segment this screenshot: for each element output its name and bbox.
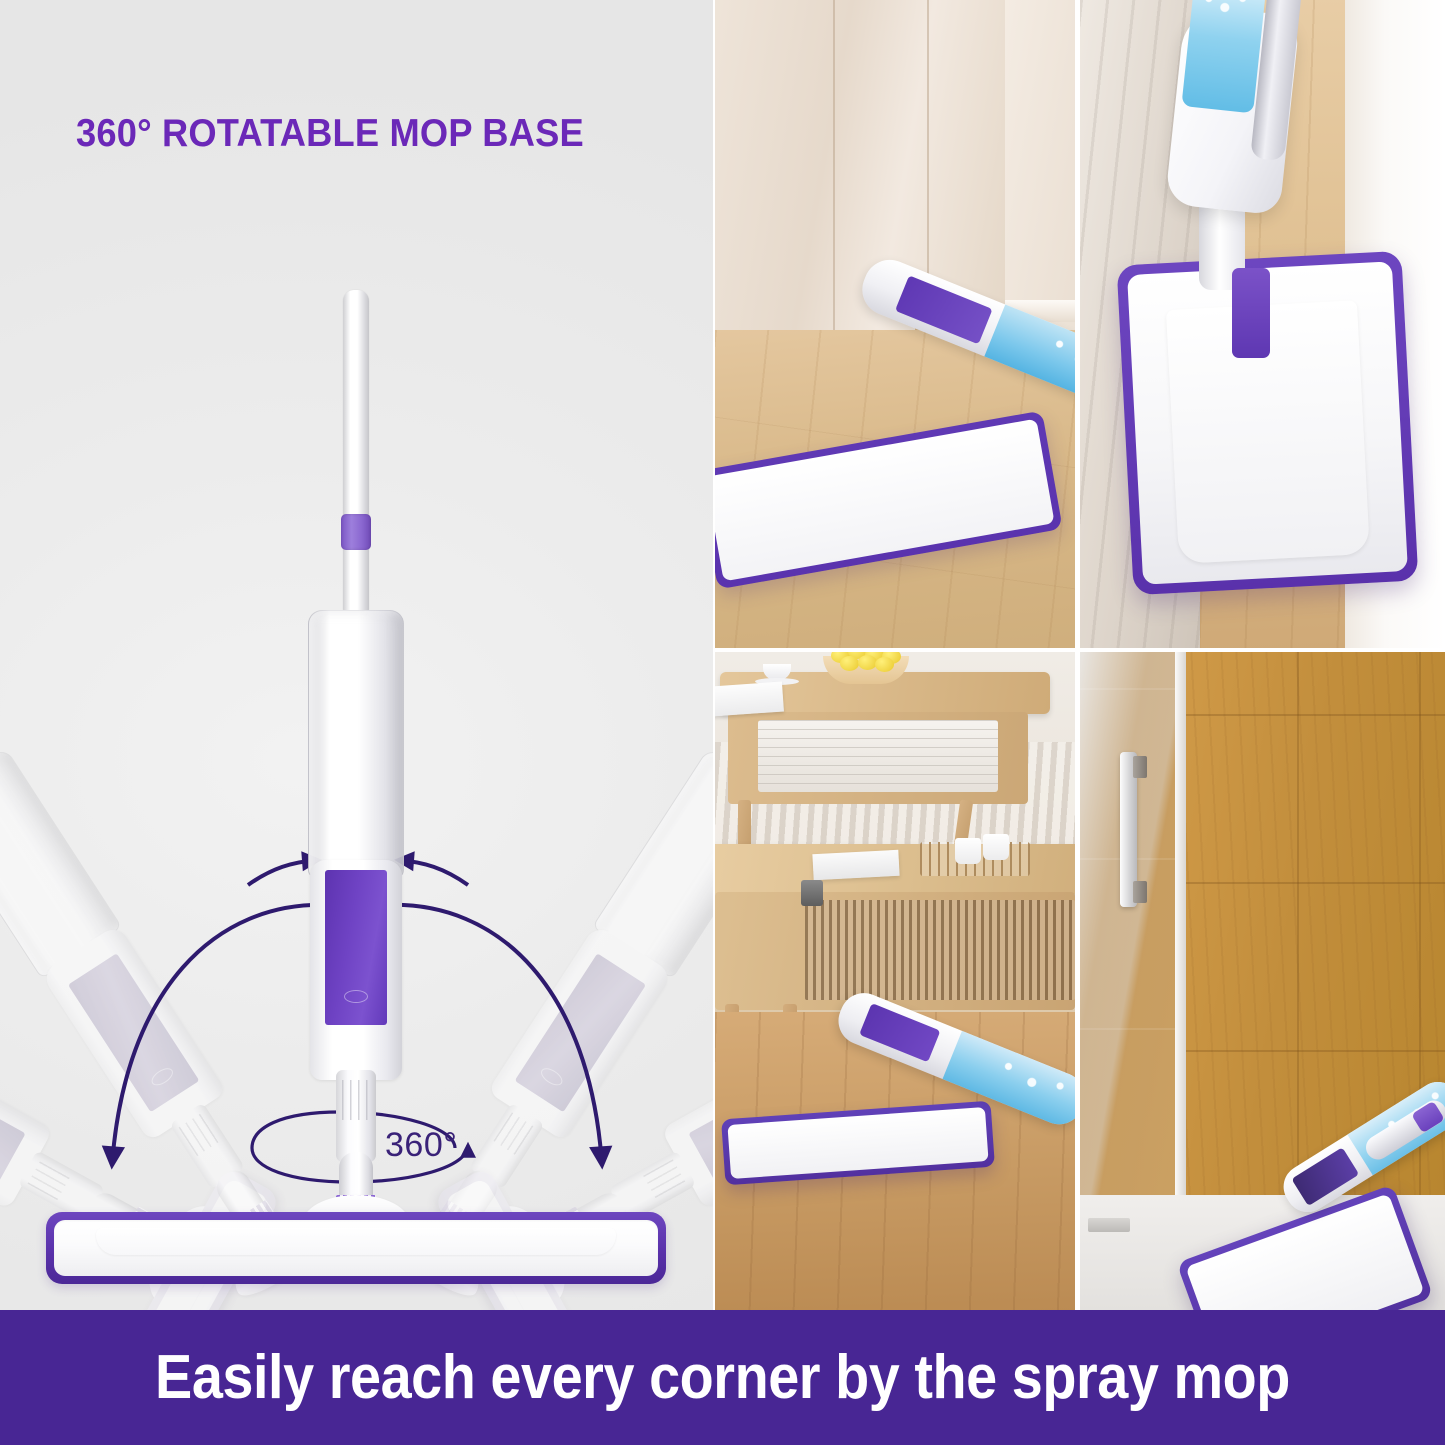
mop-trigger-logo-icon [344, 990, 368, 1003]
panel-divider [713, 0, 715, 1310]
shower-door-handle [1120, 752, 1137, 907]
mop-pole [343, 290, 369, 620]
photo-grid [715, 0, 1445, 1310]
rotation-diagram-panel: 360° ROTATABLE MOP BASE [0, 0, 713, 1310]
banner-headline: Easily reach every corner by the spray m… [155, 1342, 1290, 1413]
photo-bathroom-wall [1080, 652, 1445, 1310]
photo-mop-head-closeup [1080, 0, 1445, 648]
grid-divider-horizontal [715, 648, 1445, 652]
photo-under-cabinet [715, 0, 1075, 648]
mop-pole-collar [341, 514, 371, 550]
mop-water-bottle [308, 610, 404, 878]
grid-divider-vertical [1075, 0, 1080, 1310]
mop-main [256, 290, 456, 1250]
product-feature-image: 360° ROTATABLE MOP BASE [0, 0, 1445, 1445]
mop-head-pad [54, 1220, 658, 1276]
mop-head [46, 1212, 666, 1284]
water-tank-photo2 [1181, 0, 1266, 113]
photo-living-room [715, 652, 1075, 1310]
mop-neck-ribs [342, 1080, 370, 1120]
bottom-banner: Easily reach every corner by the spray m… [0, 1310, 1445, 1445]
